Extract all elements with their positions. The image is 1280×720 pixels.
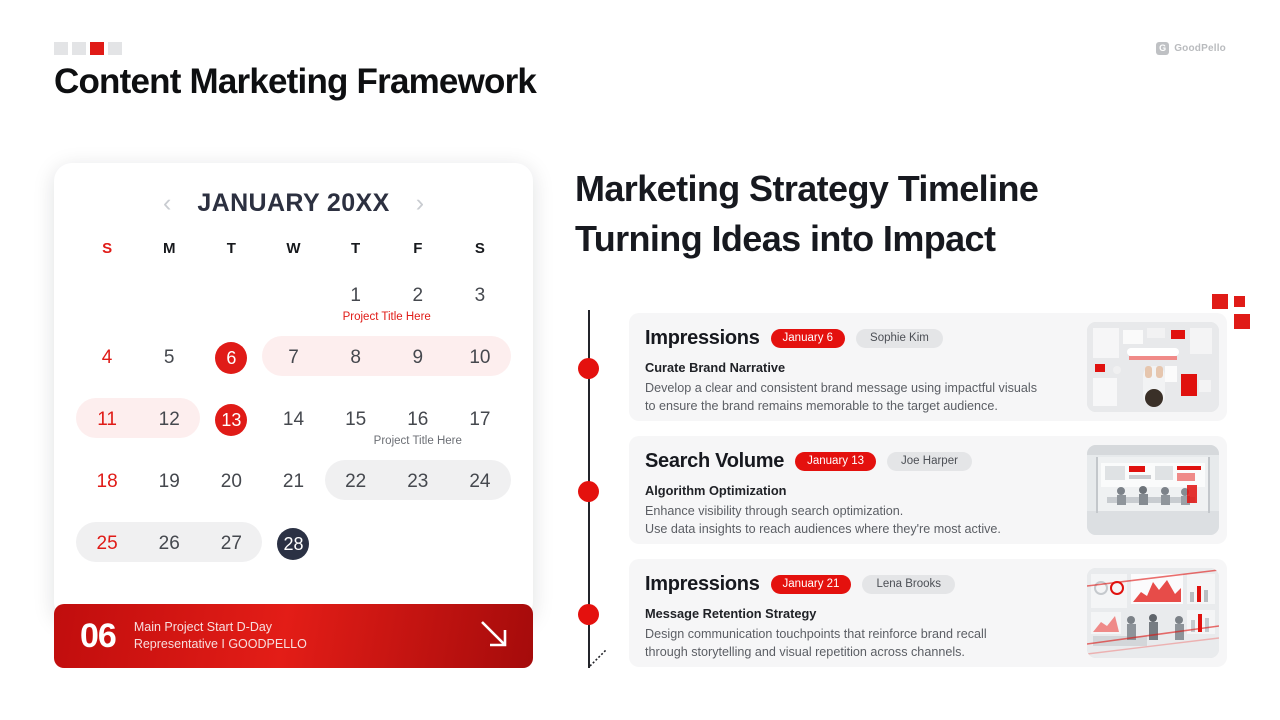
brand-logo: G GoodPello [1156,42,1226,55]
calendar-day-4[interactable]: 4 [76,327,138,389]
calendar-day-highlight-red: 6 [215,342,247,374]
deco-square-red-a [1212,294,1228,309]
timeline-metric-name: Impressions [645,573,760,596]
calendar-day-11[interactable]: 11 [76,389,138,451]
timeline-dot [578,604,599,625]
calendar-weekday-row: SMTWTFS [54,218,533,265]
deco-square-2 [72,42,86,55]
calendar-day-27[interactable]: 27 [200,513,262,575]
desk-workspace-photo [1087,322,1219,412]
calendar-day-5[interactable]: 5 [138,327,200,389]
goodpello-g-icon: G [1156,42,1169,55]
timeline-date-badge: January 13 [795,452,876,471]
timeline-heading-line-2: Turning Ideas into Impact [575,214,1195,264]
calendar-weekday-1: M [138,218,200,265]
data-wall-photo [1087,568,1219,658]
page-title: Content Marketing Framework [54,62,536,102]
timeline-dot [578,481,599,502]
calendar-day-8[interactable]: 8 [325,327,387,389]
timeline-card-list: ImpressionsJanuary 6Sophie KimCurate Bra… [629,313,1227,682]
calendar-day-18[interactable]: 18 [76,451,138,513]
calendar-project-label: Project Title Here [325,435,511,447]
timeline-heading: Marketing Strategy Timeline Turning Idea… [575,164,1195,265]
calendar-card: ‹ JANUARY 20XX › SMTWTFS 123Project Titl… [54,163,533,620]
calendar-week-row: 25262728 [76,513,511,575]
timeline-person-badge: Joe Harper [887,452,972,471]
deco-square-3-red [90,42,104,55]
calendar-footer-bar: 06 Main Project Start D-Day Representati… [54,604,533,668]
calendar-widget: ‹ JANUARY 20XX › SMTWTFS 123Project Titl… [54,163,533,668]
calendar-month-label: JANUARY 20XX [197,189,389,218]
glass-office-meeting-photo [1087,445,1219,535]
arrow-down-right-icon [477,617,511,656]
timeline-person-badge: Sophie Kim [856,329,943,348]
calendar-week-row: Project Title Here18192021222324 [76,451,511,513]
timeline-date-badge: January 21 [771,575,852,594]
calendar-day-9[interactable]: 9 [387,327,449,389]
calendar-day-26[interactable]: 26 [138,513,200,575]
calendar-weeks: 123Project Title Here4567891011121314151… [54,265,533,575]
calendar-day-21[interactable]: 21 [262,451,324,513]
timeline-card[interactable]: ImpressionsJanuary 21Lena BrooksMessage … [629,559,1227,667]
calendar-weekday-3: W [262,218,324,265]
timeline-heading-line-1: Marketing Strategy Timeline [575,164,1195,214]
deco-square-red-b [1234,296,1245,307]
calendar-weekday-2: T [200,218,262,265]
calendar-day-12[interactable]: 12 [138,389,200,451]
calendar-day-7[interactable]: 7 [262,327,324,389]
timeline-person-badge: Lena Brooks [862,575,955,594]
deco-square-red-c [1234,314,1250,329]
calendar-day-6[interactable]: 6 [200,327,262,389]
calendar-weekday-0: S [76,218,138,265]
calendar-week-row: Project Title Here45678910 [76,327,511,389]
calendar-project-label: Project Title Here [262,311,511,323]
footer-line-2: Representative I GOODPELLO [134,636,307,653]
deco-square-1 [54,42,68,55]
calendar-day-28[interactable]: 28 [262,513,324,575]
calendar-day-empty [387,513,449,575]
calendar-day-24[interactable]: 24 [449,451,511,513]
brand-name: GoodPello [1174,43,1226,54]
calendar-day-23[interactable]: 23 [387,451,449,513]
calendar-day-14[interactable]: 14 [262,389,324,451]
calendar-week-cells: 18192021222324 [76,451,511,513]
timeline-metric-name: Search Volume [645,450,784,473]
calendar-weekday-4: T [325,218,387,265]
timeline-rail-tip-icon [589,641,615,667]
calendar-day-empty [138,265,200,327]
calendar-day-25[interactable]: 25 [76,513,138,575]
timeline-dot [578,358,599,379]
footer-day-number: 06 [80,617,116,656]
calendar-day-highlight-red: 13 [215,404,247,436]
deco-square-4 [108,42,122,55]
calendar-day-empty [449,513,511,575]
calendar-day-19[interactable]: 19 [138,451,200,513]
timeline-metric-name: Impressions [645,327,760,350]
calendar-day-empty [325,513,387,575]
slide-root: Content Marketing Framework G GoodPello … [0,0,1280,720]
timeline-date-badge: January 6 [771,329,846,348]
calendar-weekday-5: F [387,218,449,265]
timeline-card[interactable]: Search VolumeJanuary 13Joe HarperAlgorit… [629,436,1227,544]
footer-text: Main Project Start D-Day Representative … [134,619,307,652]
next-month-icon[interactable]: › [416,191,424,216]
calendar-day-highlight-navy: 28 [277,528,309,560]
calendar-weekday-6: S [449,218,511,265]
footer-line-1: Main Project Start D-Day [134,619,307,636]
calendar-day-13[interactable]: 13 [200,389,262,451]
calendar-header: ‹ JANUARY 20XX › [54,163,533,218]
prev-month-icon[interactable]: ‹ [163,191,171,216]
calendar-day-20[interactable]: 20 [200,451,262,513]
calendar-day-empty [200,265,262,327]
calendar-day-empty [76,265,138,327]
calendar-week-cells: 45678910 [76,327,511,389]
calendar-week-cells: 25262728 [76,513,511,575]
calendar-day-22[interactable]: 22 [325,451,387,513]
decorative-squares-header [54,42,122,55]
timeline-card[interactable]: ImpressionsJanuary 6Sophie KimCurate Bra… [629,313,1227,421]
calendar-day-10[interactable]: 10 [449,327,511,389]
